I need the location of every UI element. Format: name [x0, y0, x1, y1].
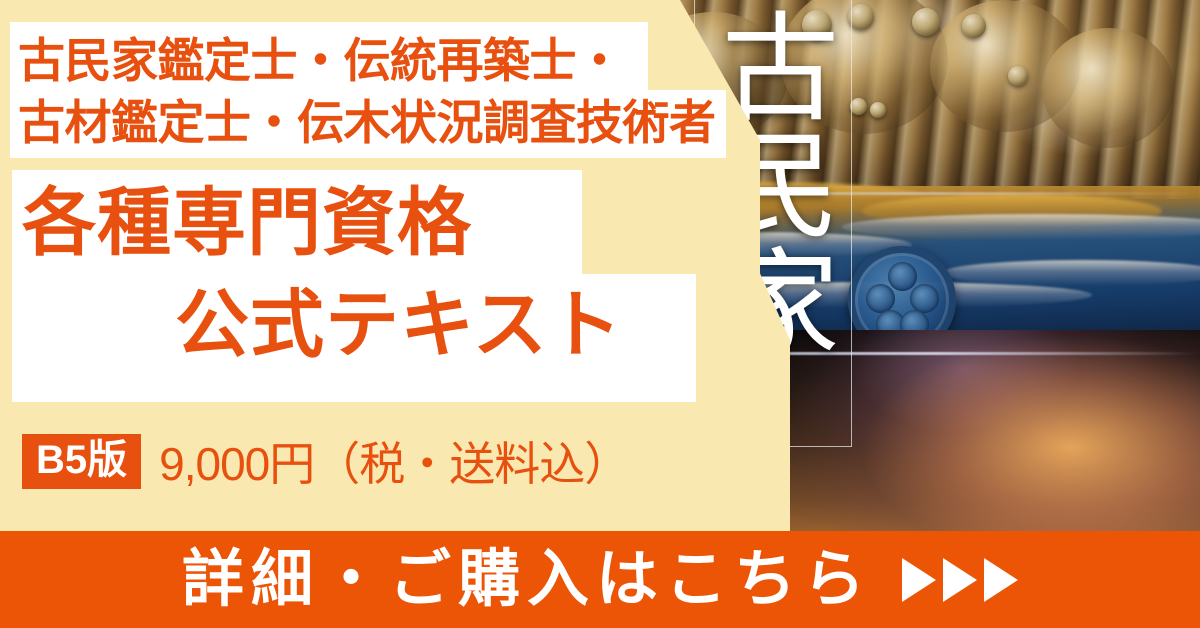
- headline-line-1: 古民家鑑定士・伝統再築士・: [18, 30, 728, 92]
- triangle-right-icon: [943, 558, 977, 602]
- wood-bead: [870, 102, 886, 118]
- triangle-right-icon: [902, 558, 936, 602]
- wood-bead: [912, 8, 940, 36]
- wood-swirl-icon: [1042, 28, 1174, 148]
- title-main: 各種専門資格: [22, 186, 472, 260]
- triangle-right-icon: [984, 558, 1018, 602]
- price-text: 9,000円（税・送料込）: [159, 428, 629, 494]
- wood-bead: [1008, 66, 1028, 86]
- promo-banner: 古民家 伝統構法、古民家活用のための調査と再生の 古民家鑑定士・伝統再築士・ 古…: [0, 0, 1200, 628]
- wood-bead: [850, 98, 867, 115]
- headline-line-2: 古材鑑定士・伝木状況調査技術者: [18, 92, 728, 154]
- title-sub: 公式テキスト: [175, 288, 623, 362]
- wood-bead: [962, 14, 986, 38]
- headline: 古民家鑑定士・伝統再築士・ 古材鑑定士・伝木状況調査技術者: [18, 30, 728, 154]
- price-row: B5版 9,000円（税・送料込）: [22, 428, 629, 494]
- cta-bar[interactable]: 詳細・ご購入はこちら: [0, 531, 1200, 628]
- cta-label: 詳細・ご購入はこちら: [182, 549, 872, 611]
- cta-arrows: [902, 558, 1018, 602]
- size-badge: B5版: [22, 434, 141, 489]
